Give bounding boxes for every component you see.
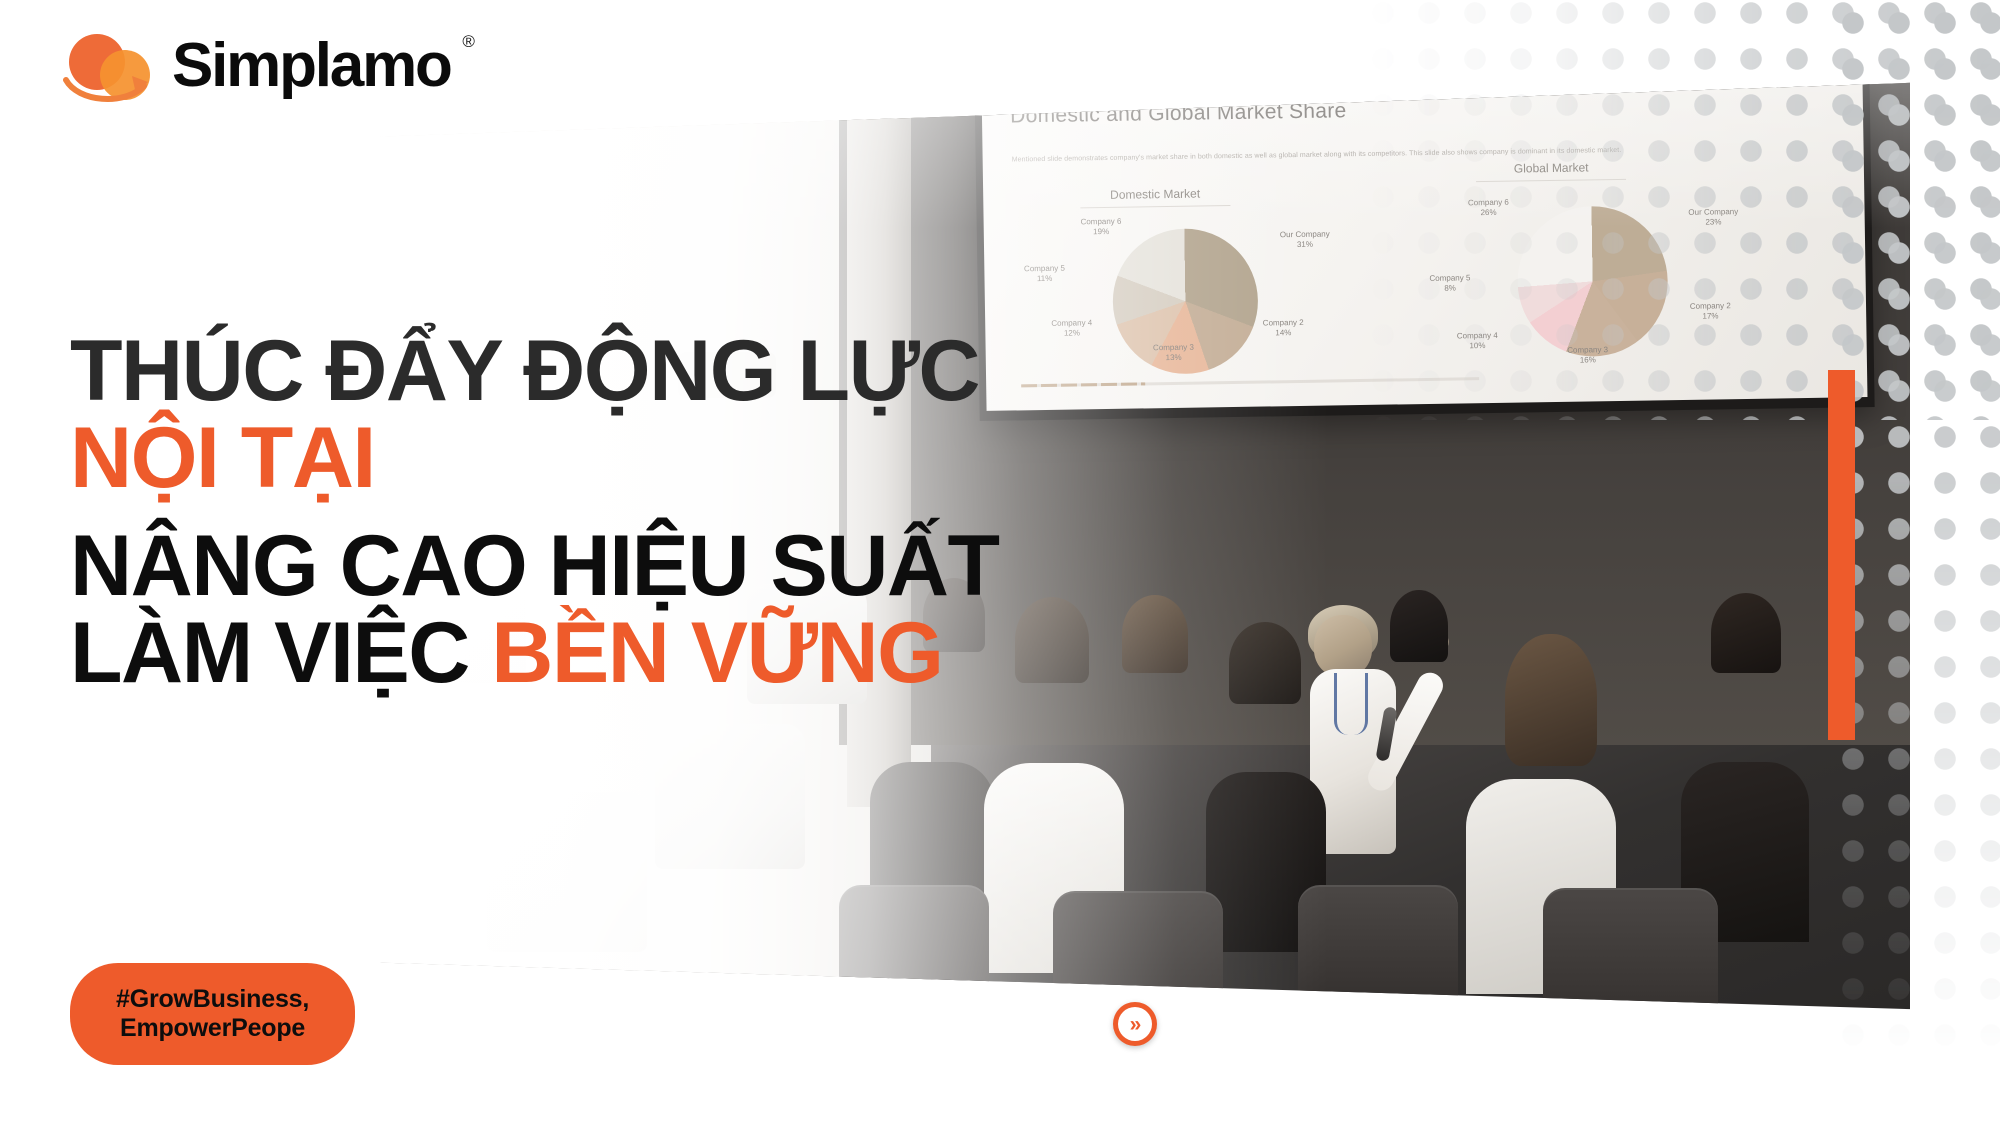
headline-line-4-plain: LÀM VIỆC: [70, 605, 491, 701]
slide-title: Domestic and Global Market Share: [1010, 100, 1347, 129]
marketing-banner: Domestic and Global Market Share Mention…: [0, 0, 2000, 1130]
headline-line-3: NÂNG CAO HIỆU SUẤT: [70, 525, 970, 608]
headline-line-1: THÚC ĐẨY ĐỘNG LỰC: [70, 330, 970, 413]
chair: [1298, 885, 1458, 1035]
slide-progress-bar: [1021, 377, 1479, 387]
pie-label-domestic-company-2: Company 214%: [1262, 318, 1303, 339]
headline-block: THÚC ĐẨY ĐỘNG LỰC NỘI TẠI NÂNG CAO HIỆU …: [70, 330, 970, 696]
presenter-head: [1314, 615, 1372, 677]
chair: [487, 792, 647, 952]
hashtag-line-1: #GrowBusiness,: [116, 985, 309, 1014]
headline-line-2: NỘI TẠI: [70, 417, 970, 500]
headline-line-4-accent: BỀN VỮNG: [491, 605, 942, 701]
double-chevron-right-icon: »: [1130, 1014, 1142, 1035]
audience-head: [1229, 622, 1301, 704]
logo-curved-arrow-icon: [62, 66, 154, 106]
logo-wordmark: Simplamo ®: [172, 35, 451, 97]
pie-label-domestic-company-5: Company 511%: [1024, 264, 1065, 285]
audience-head: [1015, 597, 1089, 683]
projector-screen: Domestic and Global Market Share Mention…: [974, 65, 1874, 421]
logo-mark-icon: [62, 28, 154, 104]
hashtag-pill[interactable]: #GrowBusiness, EmpowerPeope: [70, 963, 355, 1065]
global-pie-chart: [1516, 205, 1668, 357]
chair: [655, 724, 805, 869]
pie-label-global-our-company: Our Company23%: [1688, 208, 1738, 229]
chair: [839, 885, 989, 1035]
global-market-label: Global Market: [1476, 161, 1626, 183]
simplamo-logo[interactable]: Simplamo ®: [62, 28, 451, 104]
hashtag-line-2: EmpowerPeope: [116, 1014, 309, 1043]
audience-head: [1390, 590, 1448, 662]
pie-label-global-company-6: Company 626%: [1468, 198, 1509, 219]
presentation-slide: Domestic and Global Market Share Mention…: [981, 73, 1867, 411]
next-slide-button[interactable]: »: [1113, 1002, 1157, 1046]
pie-label-domestic-company-4: Company 412%: [1051, 318, 1092, 339]
chair: [1543, 888, 1718, 1035]
pie-label-global-company-5: Company 58%: [1429, 273, 1470, 294]
pie-label-domestic-company-6: Company 619%: [1080, 217, 1121, 238]
domestic-market-label: Domestic Market: [1080, 186, 1230, 208]
registered-trademark-icon: ®: [462, 33, 472, 50]
orange-accent-bar: [1828, 370, 1855, 740]
headline-line-4: LÀM VIỆC BỀN VỮNG: [70, 612, 970, 695]
audience-head: [1505, 634, 1597, 766]
presenter-lanyard: [1334, 673, 1368, 735]
pie-label-domestic-our-company: Our Company31%: [1280, 230, 1330, 251]
pie-label-domestic-company-3: Company 313%: [1153, 343, 1194, 364]
logo-brand-name: Simplamo: [172, 31, 451, 100]
pie-label-global-company-2: Company 217%: [1689, 302, 1730, 323]
next-slide-button-inner: »: [1118, 1007, 1152, 1041]
pie-label-global-company-3: Company 316%: [1567, 346, 1608, 367]
audience-head: [1122, 595, 1188, 673]
audience-head: [1711, 593, 1781, 673]
pie-label-global-company-4: Company 410%: [1456, 331, 1497, 352]
